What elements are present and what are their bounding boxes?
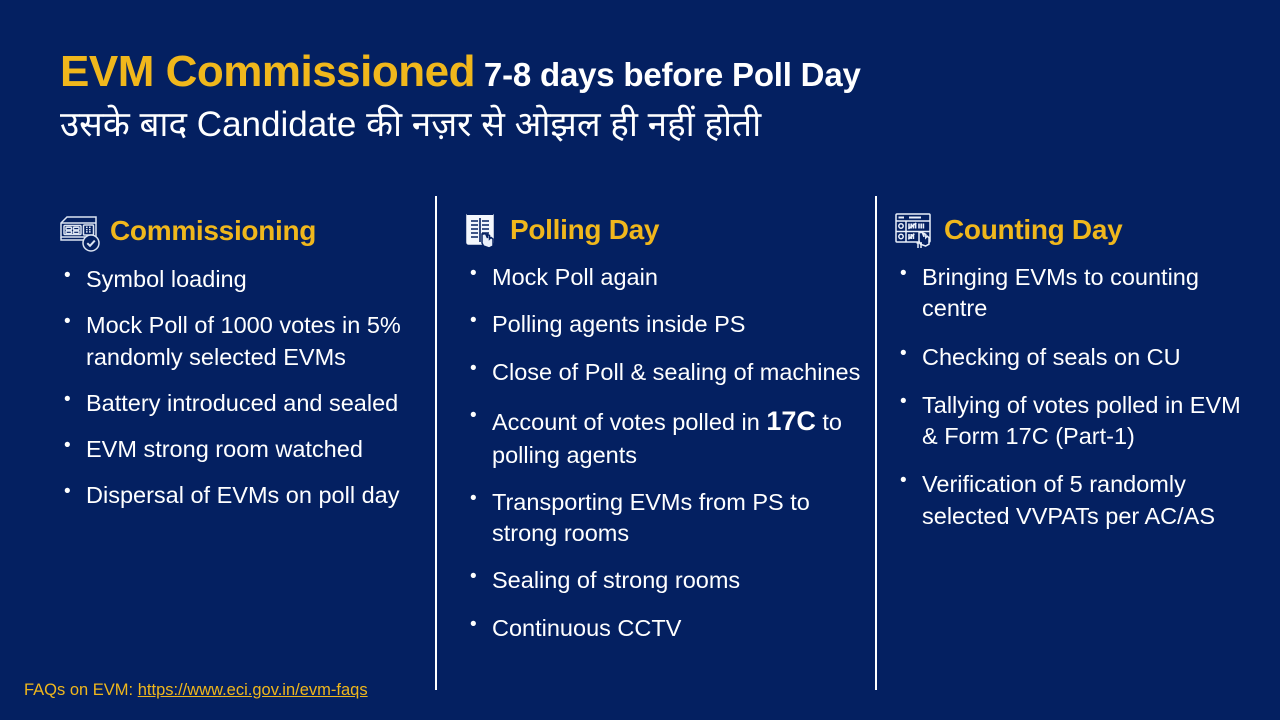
column-header-polling-day: Polling Day [462,208,870,252]
title-line-hindi: उसके बाद Candidate की नज़र से ओझल ही नही… [60,106,1240,145]
column-commissioning: Commissioning Symbol loading Mock Poll o… [56,208,431,527]
list-item: Continuous CCTV [462,613,870,644]
list-item: Polling agents inside PS [462,309,870,340]
ballot-form-hand-icon [462,208,502,252]
list-item-17c-prefix: Account of votes polled in [492,409,766,435]
footer-faq: FAQs on EVM: https://www.eci.gov.in/evm-… [24,681,368,700]
bullet-list-polling-day: Mock Poll again Polling agents inside PS… [462,262,870,644]
list-item: Verification of 5 randomly selected VVPA… [892,469,1262,532]
evm-ballot-unit-check-icon [56,208,102,254]
bullet-list-counting-day: Bringing EVMs to counting centre Checkin… [892,262,1262,532]
list-item-17c: Account of votes polled in 17C to pollin… [462,404,870,471]
column-counting-day: Counting Day Bringing EVMs to counting c… [892,208,1262,549]
page-title: EVM Commissioned 7-8 days before Poll Da… [60,50,1240,145]
column-header-counting-day: Counting Day [892,208,1262,252]
title-subtext: 7-8 days before Poll Day [475,56,861,93]
list-item: Sealing of strong rooms [462,565,870,596]
title-line-english: EVM Commissioned 7-8 days before Poll Da… [60,50,1240,94]
list-item: Close of Poll & sealing of machines [462,357,870,388]
bullet-list-commissioning: Symbol loading Mock Poll of 1000 votes i… [56,264,431,512]
list-item: Dispersal of EVMs on poll day [56,480,431,511]
column-title-counting-day: Counting Day [944,214,1122,246]
column-header-commissioning: Commissioning [56,208,431,254]
list-item-17c-emphasis: 17C [766,406,816,436]
footer-label: FAQs on EVM: [24,681,138,699]
list-item: Transporting EVMs from PS to strong room… [462,487,870,550]
list-item: Tallying of votes polled in EVM & Form 1… [892,390,1262,453]
tally-board-hand-icon [892,208,936,252]
slide-canvas: EVM Commissioned 7-8 days before Poll Da… [0,0,1280,720]
list-item: EVM strong room watched [56,434,431,465]
list-item: Symbol loading [56,264,431,295]
column-title-commissioning: Commissioning [110,215,316,247]
column-polling-day: Polling Day Mock Poll again Polling agen… [462,208,870,660]
column-divider-right [875,196,877,690]
list-item: Battery introduced and sealed [56,388,431,419]
column-divider-left [435,196,437,690]
footer-link[interactable]: https://www.eci.gov.in/evm-faqs [138,681,368,699]
list-item: Mock Poll again [462,262,870,293]
list-item: Mock Poll of 1000 votes in 5% randomly s… [56,310,431,373]
list-item: Bringing EVMs to counting centre [892,262,1262,325]
list-item: Checking of seals on CU [892,342,1262,373]
column-title-polling-day: Polling Day [510,214,659,246]
title-highlight: EVM Commissioned [60,47,475,96]
